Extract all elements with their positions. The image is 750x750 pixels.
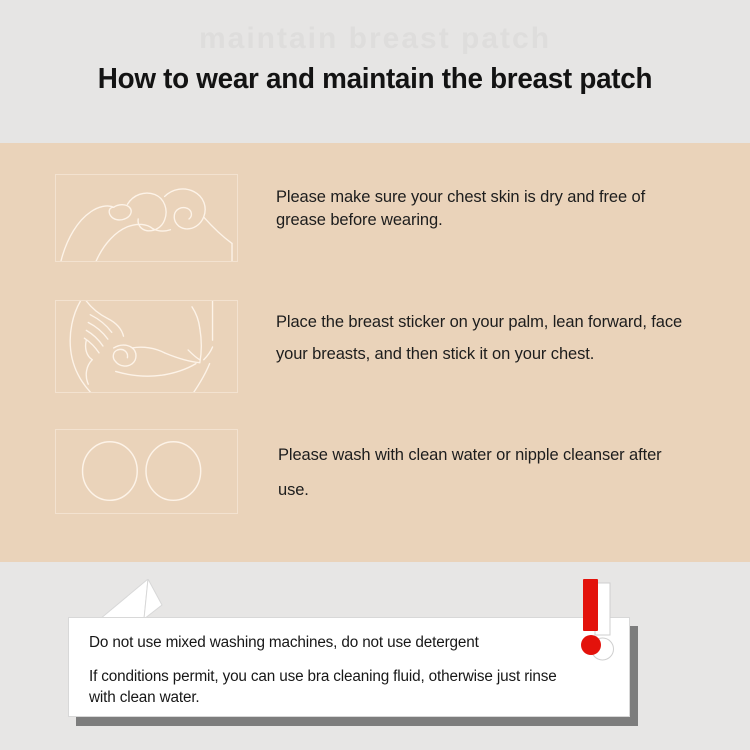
instruction-step: Please make sure your chest skin is dry …	[0, 174, 750, 262]
footer-band: Do not use mixed washing machines, do no…	[0, 562, 750, 750]
two-patches-icon	[56, 430, 237, 513]
step-2-text: Place the breast sticker on your palm, l…	[276, 306, 750, 370]
warning-line-1: Do not use mixed washing machines, do no…	[89, 632, 559, 655]
instructions-panel: Please make sure your chest skin is dry …	[0, 143, 750, 562]
callout-tail	[100, 579, 170, 619]
instruction-step: Please wash with clean water or nipple c…	[0, 429, 750, 514]
step-1-text: Please make sure your chest skin is dry …	[276, 186, 736, 233]
step-3-illustration	[55, 429, 238, 514]
page-title: How to wear and maintain the breast patc…	[15, 63, 735, 96]
step-3-text: Please wash with clean water or nipple c…	[278, 438, 718, 507]
hands-peeling-patch-icon	[56, 175, 237, 261]
warning-exclamation	[580, 577, 628, 667]
exclamation-mark-icon	[580, 577, 628, 667]
step-2-illustration	[55, 300, 238, 393]
header-band: maintain breast patch How to wear and ma…	[0, 0, 750, 143]
header-watermark: maintain breast patch	[0, 22, 750, 56]
instruction-infographic: maintain breast patch How to wear and ma…	[0, 0, 750, 750]
callout-box: Do not use mixed washing machines, do no…	[68, 617, 630, 717]
warning-line-2: If conditions permit, you can use bra cl…	[89, 666, 559, 708]
hand-applying-patch-to-chest-icon	[56, 301, 237, 392]
instruction-step: Place the breast sticker on your palm, l…	[0, 300, 750, 393]
callout-text: Do not use mixed washing machines, do no…	[89, 632, 559, 708]
speech-bubble-pointer-icon	[100, 579, 170, 619]
warning-callout: Do not use mixed washing machines, do no…	[68, 617, 630, 717]
step-1-illustration	[55, 174, 238, 262]
